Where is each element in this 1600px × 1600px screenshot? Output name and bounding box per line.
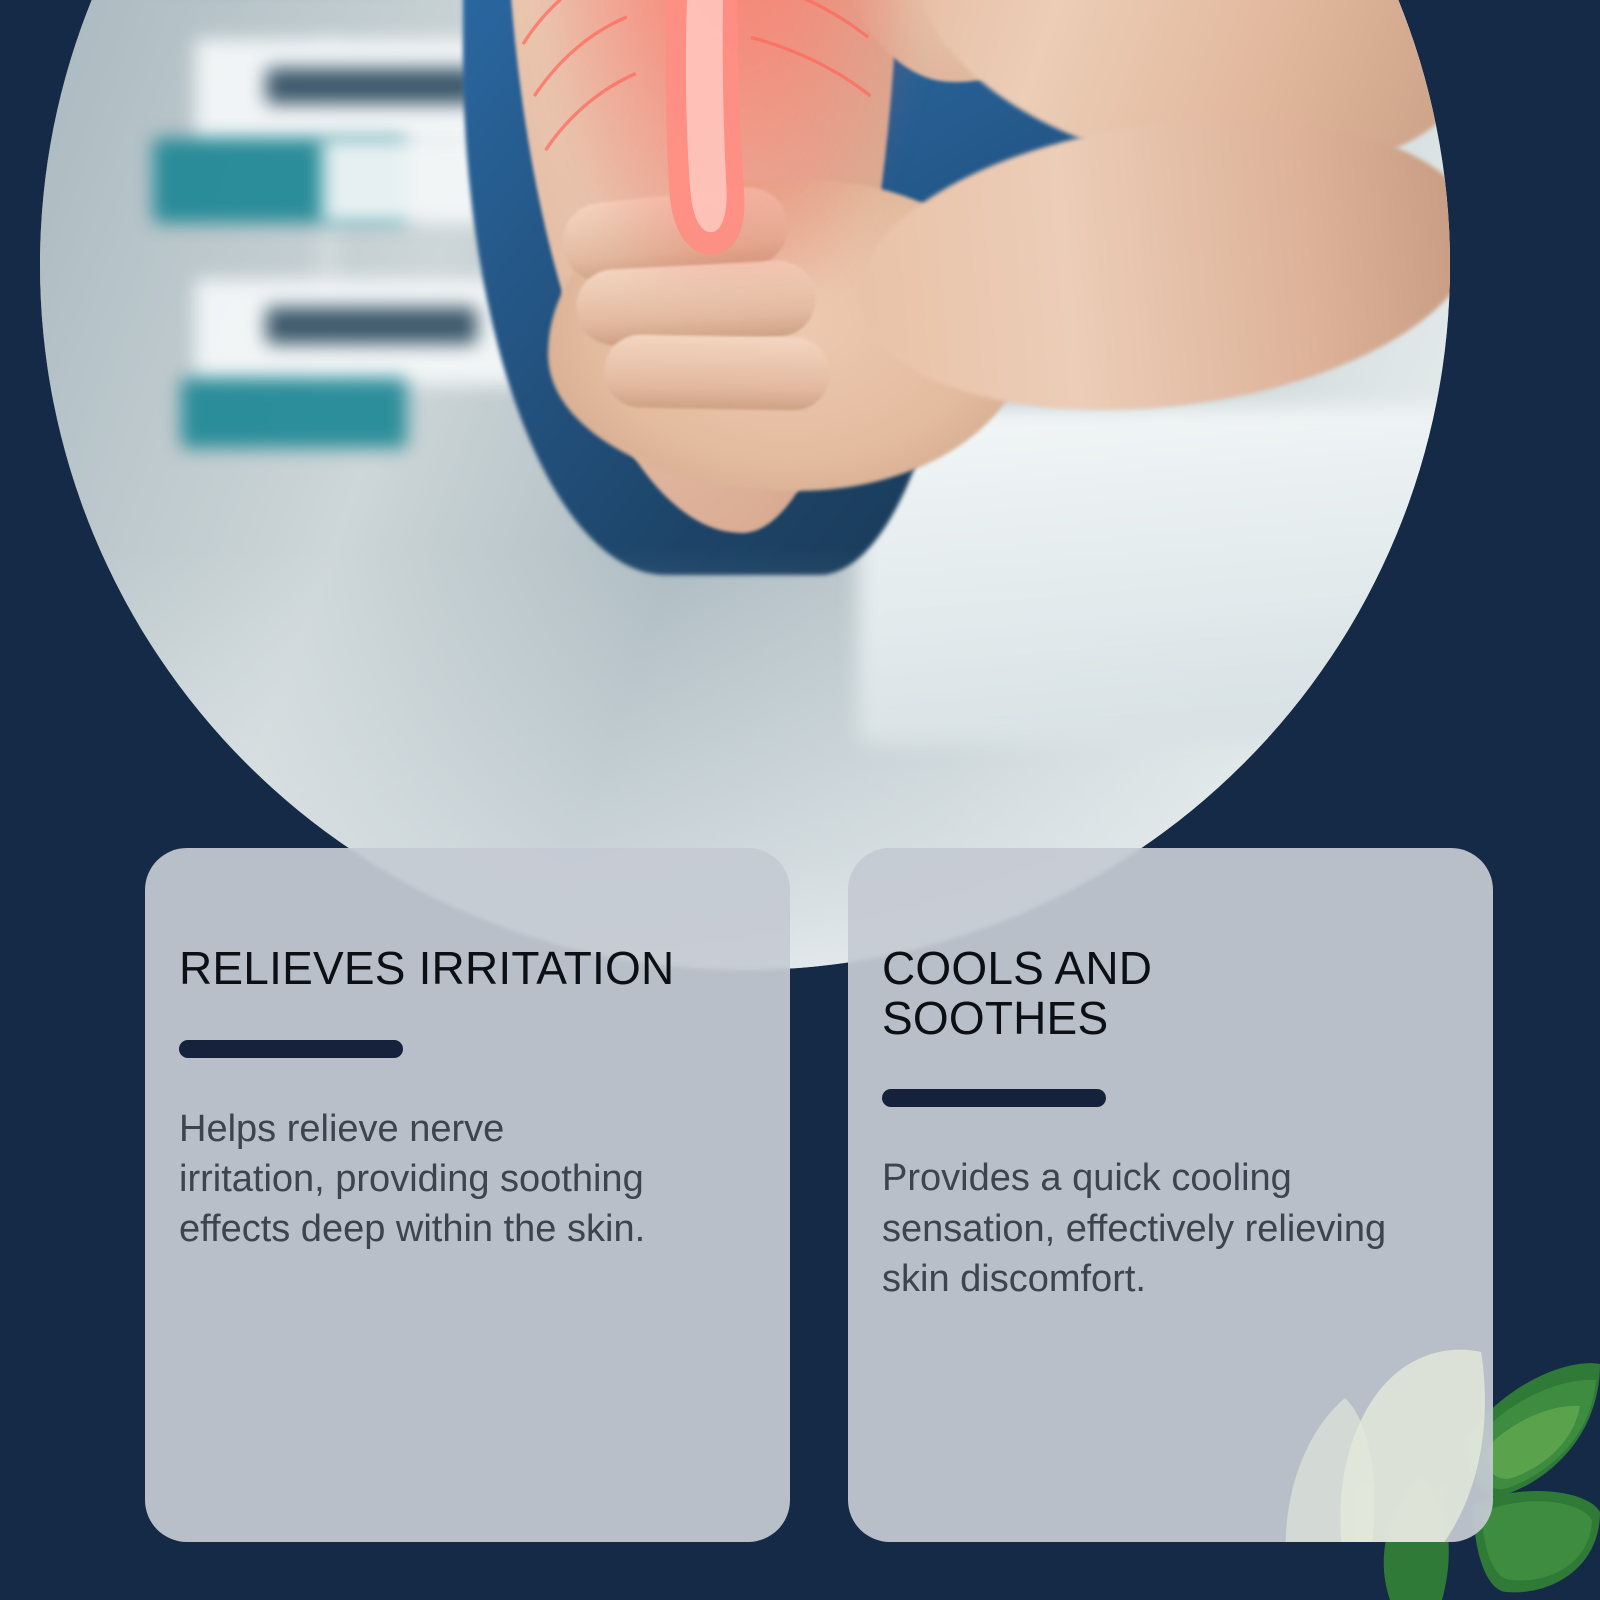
card-body-text: Helps relieve nerve irritation, providin… [179, 1104, 649, 1254]
pump-screen-icon [266, 68, 478, 105]
card-title: RELIEVES IRRITATION [179, 944, 748, 994]
feature-card-relieves-irritation[interactable]: RELIEVES IRRITATION Helps relieve nerve … [145, 848, 790, 1542]
pump-panel-icon [181, 378, 407, 449]
finger-icon [603, 334, 830, 411]
shoulder-bone-overlay-icon [505, 0, 956, 265]
card-title: COOLS AND SOOTHES [882, 944, 1451, 1043]
pump-screen-icon [266, 307, 478, 344]
card-accent-rule [882, 1089, 1106, 1107]
feature-card-cools-and-soothes[interactable]: COOLS AND SOOTHES Provides a quick cooli… [848, 848, 1493, 1542]
feature-cards: RELIEVES IRRITATION Helps relieve nerve … [145, 848, 1493, 1542]
card-body-text: Provides a quick cooling sensation, effe… [882, 1153, 1422, 1303]
hero-circle-image [40, 0, 1450, 970]
examination-bed [858, 406, 1450, 744]
infographic-canvas: RELIEVES IRRITATION Helps relieve nerve … [0, 0, 1600, 1600]
card-accent-rule [179, 1040, 403, 1058]
